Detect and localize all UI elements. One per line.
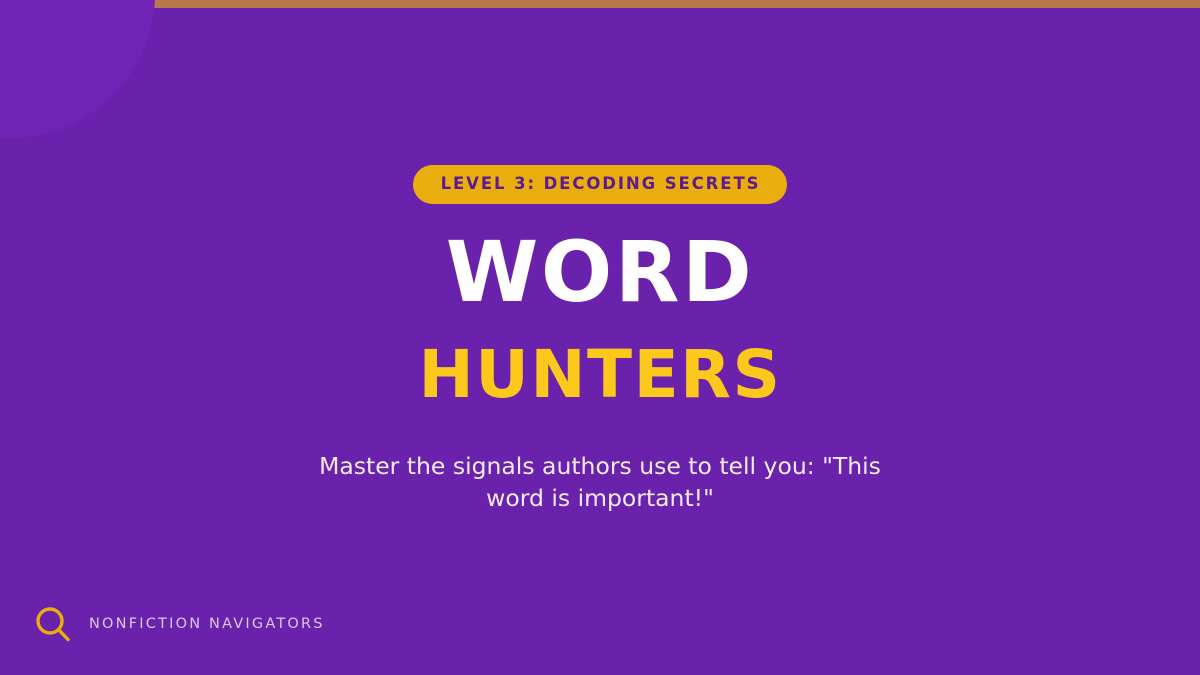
presentation-slide: LEVEL 3: DECODING SECRETS WORD HUNTERS M… <box>0 0 1200 675</box>
slide-title-primary: WORD <box>446 230 754 314</box>
footer-brand-lockup: NONFICTION NAVIGATORS <box>33 604 325 644</box>
slide-content: LEVEL 3: DECODING SECRETS WORD HUNTERS M… <box>0 0 1200 675</box>
slide-subtitle: Master the signals authors use to tell y… <box>315 450 885 514</box>
level-badge: LEVEL 3: DECODING SECRETS <box>413 165 788 204</box>
footer-brand-label: NONFICTION NAVIGATORS <box>89 617 325 632</box>
search-icon <box>33 604 73 644</box>
slide-title-secondary: HUNTERS <box>418 342 781 408</box>
